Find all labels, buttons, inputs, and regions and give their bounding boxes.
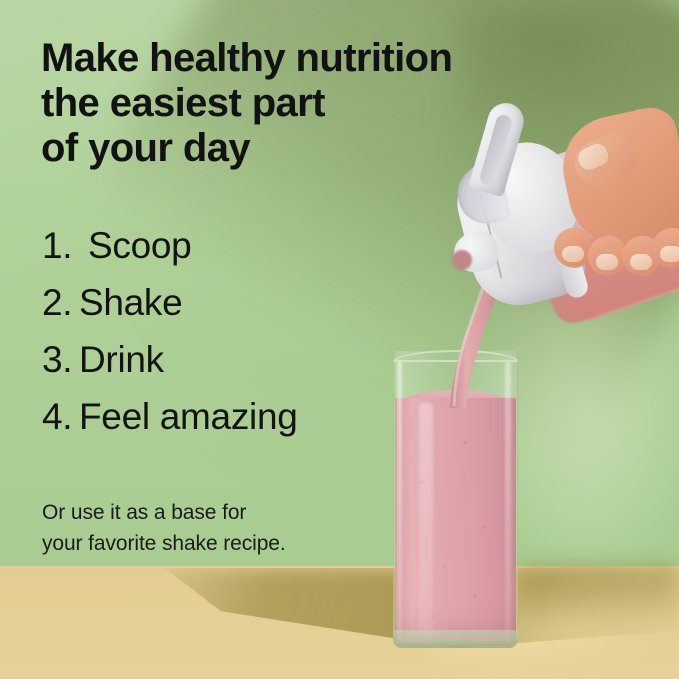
headline-line-2: the easiest part [41, 81, 601, 126]
step-item-4: 4. Feel amazing [42, 399, 462, 435]
glass-base [393, 630, 518, 648]
finger-index-nail [562, 246, 584, 262]
headline-line-1: Make healthy nutrition [41, 36, 601, 81]
step-number-1: 1. [42, 228, 88, 264]
promo-image: A Make healthy nutrition the easiest par… [0, 0, 679, 679]
step-item-3: 3. Drink [42, 342, 462, 378]
finger-pinky-nail [660, 246, 679, 262]
finger-middle-nail [596, 254, 618, 270]
subnote: Or use it as a base for your favorite sh… [42, 497, 286, 559]
step-item-1: 1. Scoop [42, 228, 462, 264]
steps-list: 1. Scoop 2. Shake 3. Drink 4. Feel amazi… [42, 228, 462, 456]
table-back-shadow [520, 566, 679, 626]
headline: Make healthy nutrition the easiest part … [41, 36, 601, 171]
subnote-line-2: your favorite shake recipe. [42, 528, 286, 559]
step-item-2: 2. Shake [42, 285, 462, 321]
step-number-2: 2. [42, 285, 79, 321]
step-number-3: 3. [42, 342, 79, 378]
step-label-1: Scoop [88, 228, 191, 264]
headline-line-3: of your day [41, 126, 601, 171]
step-label-3: Drink [79, 342, 164, 378]
subnote-line-1: Or use it as a base for [42, 497, 286, 528]
step-label-4: Feel amazing [79, 399, 298, 435]
finger-ring-nail [630, 254, 652, 270]
step-number-4: 4. [42, 399, 79, 435]
step-label-2: Shake [79, 285, 182, 321]
